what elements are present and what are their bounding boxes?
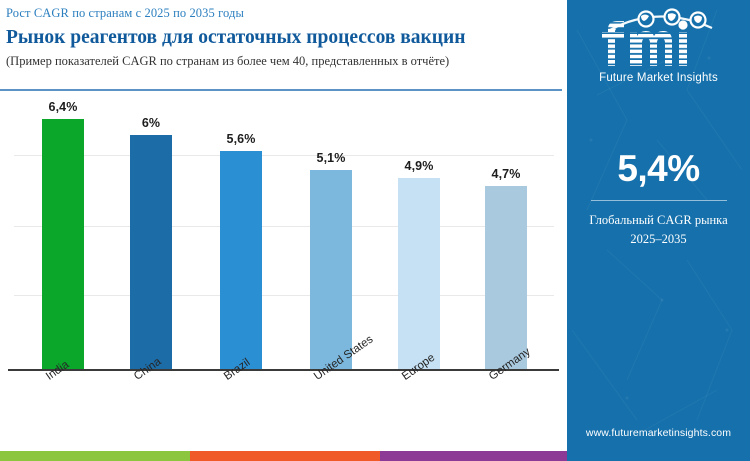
global-cagr-stat: 5,4% Глобальный CAGR рынка 2025–2035 (567, 150, 750, 250)
bar-chart-plot: 6,4%6%5,6%5,1%4,9%4,7% (0, 96, 562, 371)
bar-value-label: 4,9% (405, 159, 434, 173)
page-title: Рынок реагентов для остаточных процессов… (6, 25, 559, 50)
chart-pane: Рост CAGR по странам с 2025 по 2035 годы… (0, 0, 567, 461)
fmi-logo-tagline: Future Market Insights (567, 72, 750, 84)
bars-container: 6,4%6%5,6%5,1%4,9%4,7% (0, 96, 562, 369)
fmi-logo: Future Market Insights (567, 8, 750, 84)
bar[interactable] (220, 151, 262, 369)
x-axis-category-labels: IndiaChinaBrazilUnited StatesEuropeGerma… (0, 373, 562, 443)
footer-color-strip (0, 451, 567, 461)
strip-segment-green (0, 451, 190, 461)
strip-segment-purple (380, 451, 567, 461)
eyebrow-text: Рост CAGR по странам с 2025 по 2035 годы (6, 6, 559, 22)
bar-value-label: 6% (142, 116, 160, 130)
fmi-logo-icon (594, 8, 724, 70)
x-axis-line (8, 369, 559, 371)
bar[interactable] (485, 186, 527, 369)
infographic-root: Рост CAGR по странам с 2025 по 2035 годы… (0, 0, 750, 461)
bar[interactable] (130, 135, 172, 369)
strip-segment-orange (190, 451, 380, 461)
website-url: www.futuremarketinsights.com (567, 427, 750, 439)
bar[interactable] (398, 178, 440, 369)
page-subtitle: (Пример показателей CAGR по странам из б… (6, 53, 559, 69)
header-block: Рост CAGR по странам с 2025 по 2035 годы… (6, 6, 559, 69)
stat-years: 2025–2035 (567, 230, 750, 249)
stat-divider (591, 200, 727, 201)
bar[interactable] (42, 119, 84, 369)
stat-caption: Глобальный CAGR рынка (567, 211, 750, 230)
bar[interactable] (310, 170, 352, 369)
bar-value-label: 5,1% (317, 151, 346, 165)
stat-value: 5,4% (567, 150, 750, 187)
brand-panel: Future Market Insights 5,4% Глобальный C… (567, 0, 750, 461)
bar-value-label: 5,6% (227, 132, 256, 146)
bar-value-label: 4,7% (492, 167, 521, 181)
header-divider (0, 89, 562, 91)
bar-value-label: 6,4% (49, 100, 78, 114)
